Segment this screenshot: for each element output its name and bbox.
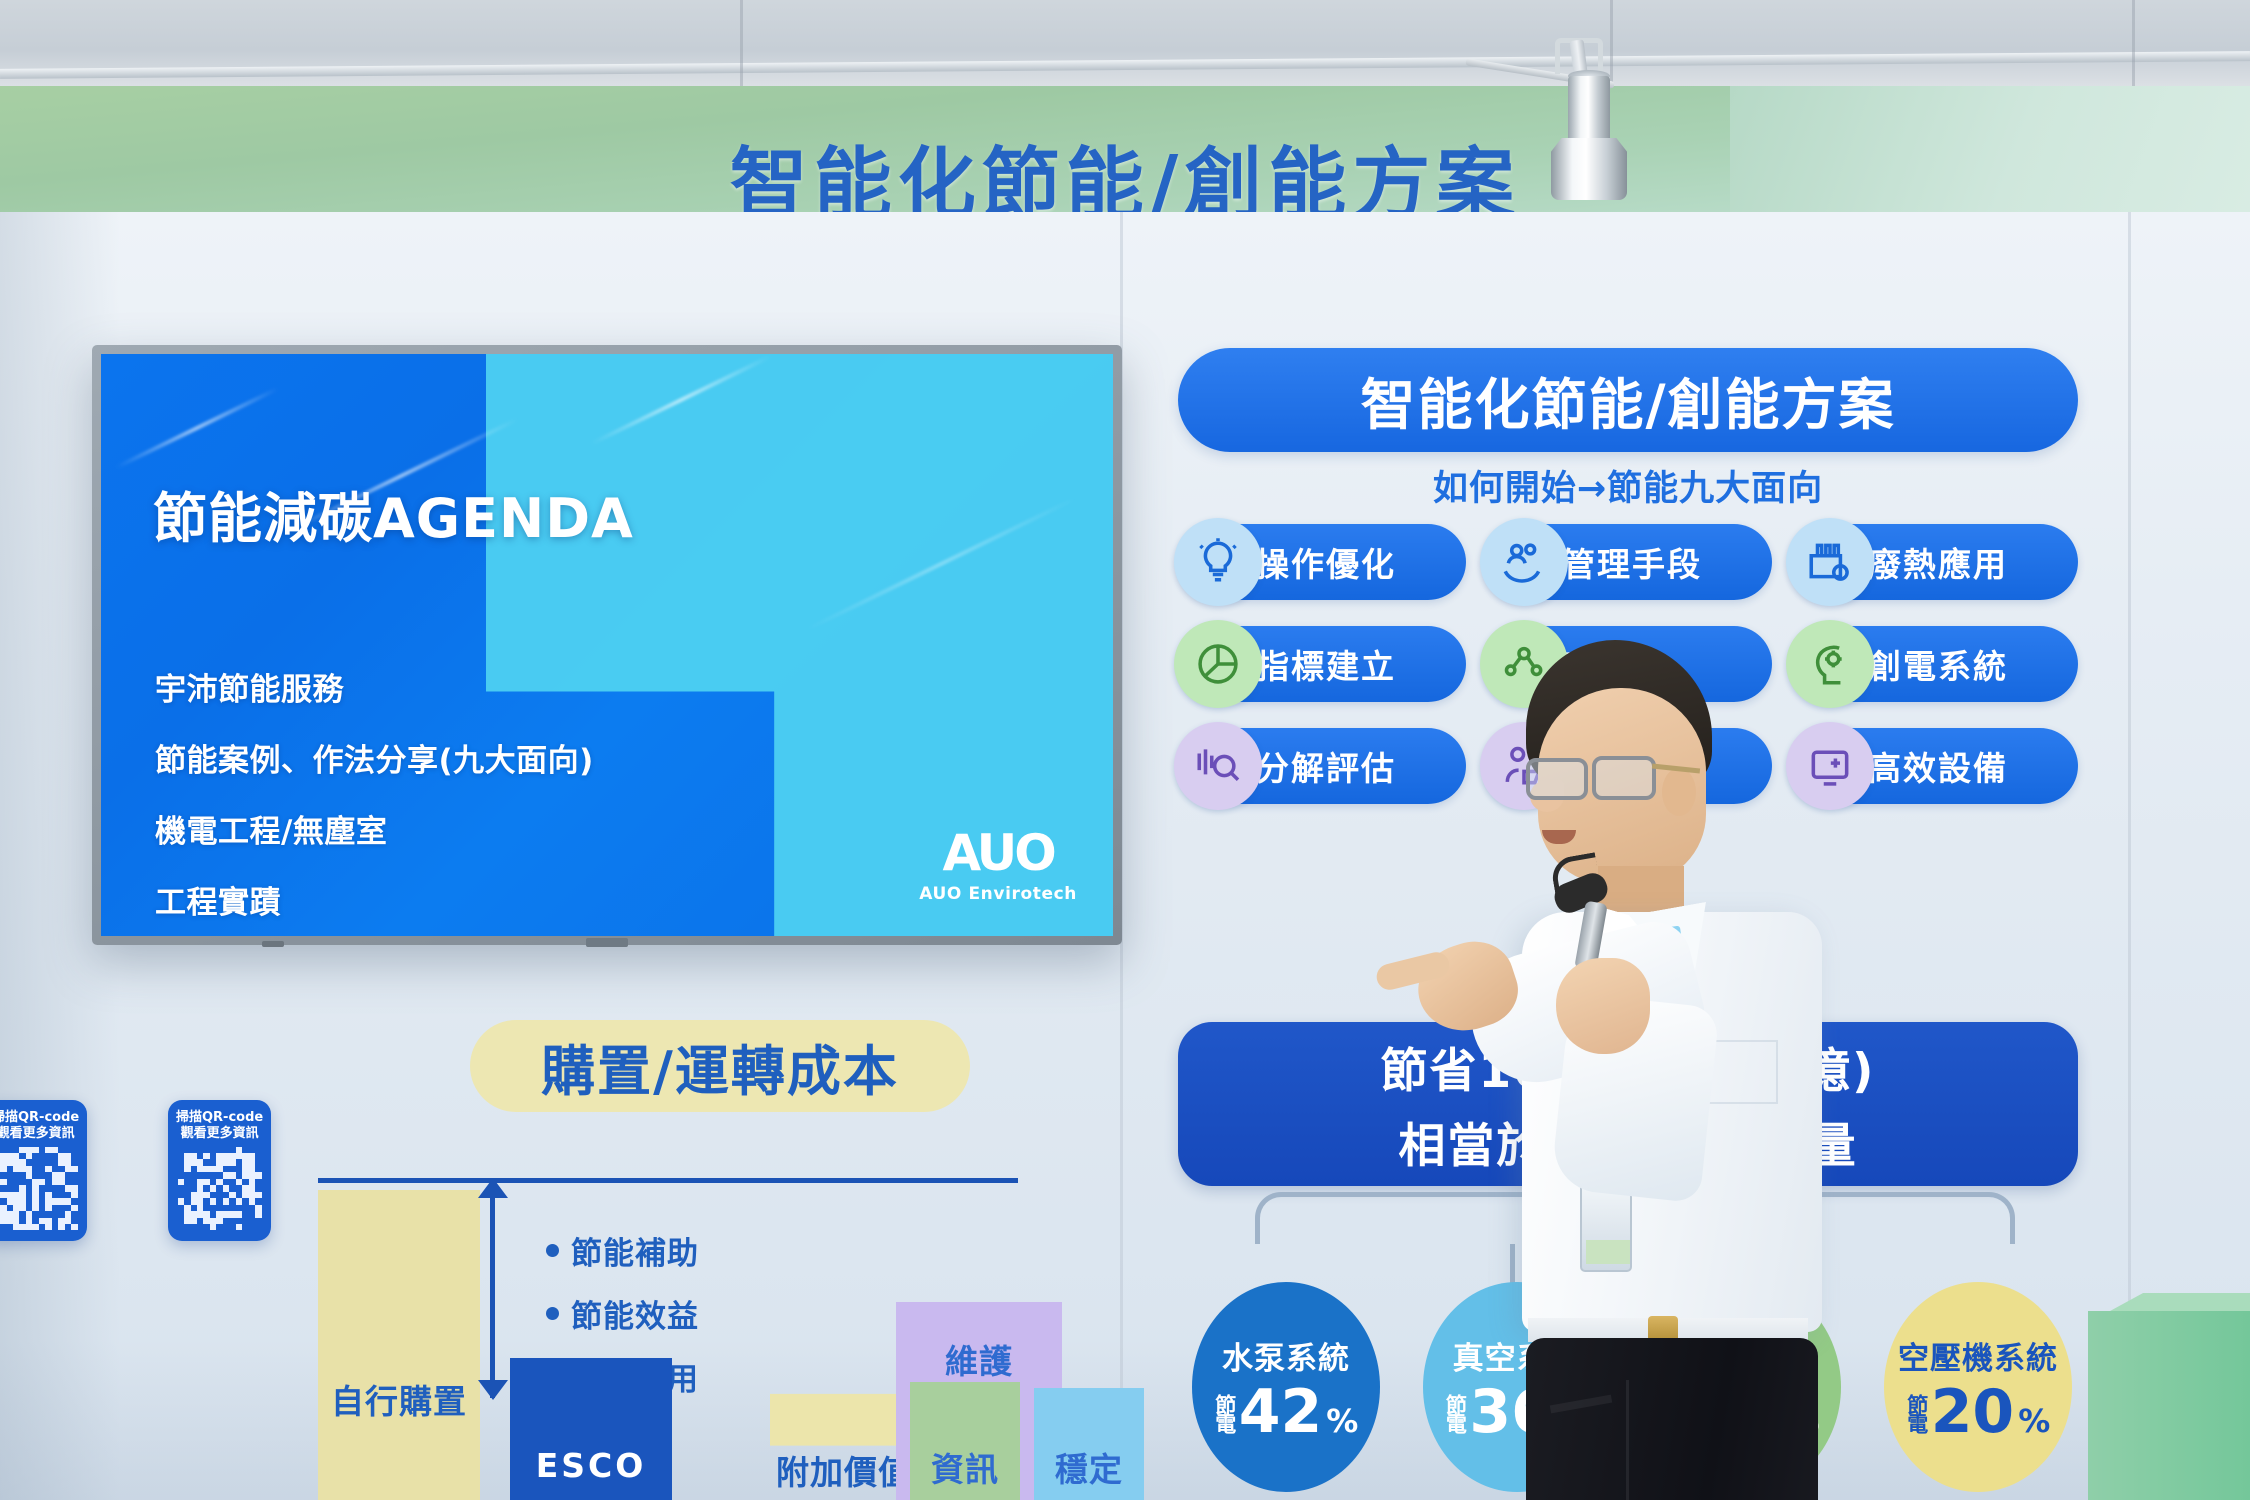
bar-label: 維護	[945, 1341, 1013, 1382]
cost-comparison-chart: 自行購置 節能補助 節能效益 維護費用 ESCO 附加價值 維護 資訊 穩定	[318, 1178, 1148, 1500]
qr-card-caption: 掃描QR-code 觀看更多資訊	[0, 1110, 79, 1143]
bullet-dot	[546, 1307, 559, 1320]
presentation-display: 節能減碳AGENDA 宇沛節能服務 節能案例、作法分享(九大面向) 機電工程/無…	[92, 345, 1122, 945]
green-pedestal	[2050, 1285, 2250, 1500]
pedestal-front	[2088, 1311, 2250, 1500]
aspect-pill-decomposition-assessment[interactable]: 分解評估	[1178, 728, 1466, 804]
bullet-dot	[546, 1244, 559, 1257]
presenter	[1430, 640, 1850, 1500]
arrow-head-up	[478, 1178, 508, 1198]
slide-light-streak	[115, 387, 279, 470]
list-item: 工程實蹟	[155, 877, 594, 922]
eyeglasses-lens-right	[1592, 756, 1656, 800]
aspect-pill-waste-heat[interactable]: 廢熱應用	[1790, 524, 2078, 600]
auo-logo: AUO AUO Envirotech	[919, 824, 1077, 904]
bar-esco: ESCO	[510, 1358, 672, 1500]
arrow-head-down	[478, 1380, 508, 1400]
eyeglasses-lens-left	[1526, 758, 1588, 800]
aspect-pill-label: 管理手段	[1562, 538, 1702, 586]
qr-card-caption: 掃描QR-code 觀看更多資訊	[176, 1110, 263, 1143]
spotlight-head	[1551, 138, 1627, 200]
aspect-pill-operation-optimization[interactable]: 操作優化	[1178, 524, 1466, 600]
bullet-text: 節能效益	[571, 1291, 699, 1336]
bar-self-purchase: 自行購置	[318, 1190, 480, 1500]
ceiling	[0, 0, 2250, 92]
bar-label: ESCO	[536, 1445, 647, 1486]
factory-gear-icon	[1786, 518, 1874, 606]
savings-system-label: 空壓機系統	[1898, 1333, 2058, 1378]
list-item: 節能效益	[546, 1291, 699, 1336]
savings-metric-label: 節電	[1214, 1394, 1235, 1432]
qr-card[interactable]: 掃描QR-code 觀看更多資訊	[168, 1100, 271, 1241]
auo-logo-wordmark: AUO	[919, 824, 1077, 882]
aspect-pill-management[interactable]: 管理手段	[1484, 524, 1772, 600]
aspect-pill-label: 指標建立	[1256, 640, 1396, 688]
id-badge-strip	[1586, 1240, 1630, 1264]
aspect-pill-label: 分解評估	[1256, 742, 1396, 790]
people-hand-icon	[1480, 518, 1568, 606]
display-screen: 節能減碳AGENDA 宇沛節能服務 節能案例、作法分享(九大面向) 機電工程/無…	[101, 354, 1113, 936]
savings-system-label: 水泵系統	[1222, 1333, 1350, 1378]
bar-stability: 穩定	[1034, 1388, 1144, 1500]
savings-unit: %	[2018, 1402, 2050, 1440]
ceiling-spotlight	[1455, 18, 1725, 208]
ceiling-panel-line	[2132, 0, 2135, 92]
savings-circle: 水泵系統 節電 42 %	[1192, 1282, 1380, 1492]
presenter-trousers	[1526, 1338, 1818, 1500]
savings-gap-arrow	[490, 1186, 495, 1398]
savings-metric-label: 節電	[1906, 1394, 1927, 1432]
poster-subtitle: 如何開始→節能九大面向	[1178, 460, 2078, 511]
bar-label: 穩定	[1055, 1449, 1123, 1490]
auo-logo-subtitle: AUO Envirotech	[919, 884, 1077, 904]
bullet-text: 節能補助	[571, 1228, 699, 1273]
exhibition-booth-photo: 智能化節能/創能方案 節能減碳AGENDA 宇沛節能服務 節能案例、作法分享(九…	[0, 0, 2250, 1500]
list-item: 宇沛節能服務	[155, 664, 594, 709]
spotlight-body	[1568, 76, 1610, 144]
display-ir-sensor	[262, 941, 284, 947]
list-item: 機電工程/無塵室	[155, 806, 594, 851]
presenter-ear	[1662, 768, 1696, 816]
bar-information: 資訊	[910, 1382, 1020, 1500]
list-item: 節能補助	[546, 1228, 699, 1273]
magnifier-data-icon	[1174, 722, 1262, 810]
poster-header-label: 智能化節能/創能方案	[1360, 360, 1895, 440]
slide-bullet-list: 宇沛節能服務 節能案例、作法分享(九大面向) 機電工程/無塵室 工程實蹟	[155, 664, 594, 922]
ceiling-panel-line	[740, 0, 743, 92]
aspect-pill-index-setup[interactable]: 指標建立	[1178, 626, 1466, 702]
qr-code-image	[0, 1147, 78, 1231]
pie-chart-icon	[1174, 620, 1262, 708]
display-brand-strip	[586, 938, 628, 947]
value-added-label: 附加價值	[776, 1446, 912, 1494]
savings-value: 42	[1239, 1382, 1323, 1442]
savings-circle: 空壓機系統 節電 20 %	[1884, 1282, 2072, 1492]
chart-top-axis	[318, 1178, 1018, 1183]
aspect-pill-label: 操作優化	[1256, 538, 1396, 586]
poster-header: 智能化節能/創能方案	[1178, 348, 2078, 452]
qr-code-image	[178, 1147, 262, 1231]
presenter-mic-hand	[1556, 958, 1650, 1054]
aspect-pill-label: 創電系統	[1868, 640, 2008, 688]
slide-title: 節能減碳AGENDA	[153, 474, 634, 553]
aspect-pill-label: 高效設備	[1868, 742, 2008, 790]
lightbulb-icon	[1174, 518, 1262, 606]
bar-label: 資訊	[931, 1449, 999, 1490]
qr-card[interactable]: 掃描QR-code 觀看更多資訊	[0, 1100, 87, 1241]
trouser-crease	[1626, 1380, 1629, 1500]
aspect-pill-label: 廢熱應用	[1868, 538, 2008, 586]
cost-section-title-label: 購置/運轉成本	[541, 1027, 899, 1106]
list-item: 節能案例、作法分享(九大面向)	[155, 735, 594, 780]
cost-section-title: 購置/運轉成本	[470, 1020, 970, 1112]
savings-unit: %	[1326, 1402, 1358, 1440]
bar-label: 自行購置	[331, 1381, 467, 1422]
savings-value: 20	[1931, 1382, 2015, 1442]
